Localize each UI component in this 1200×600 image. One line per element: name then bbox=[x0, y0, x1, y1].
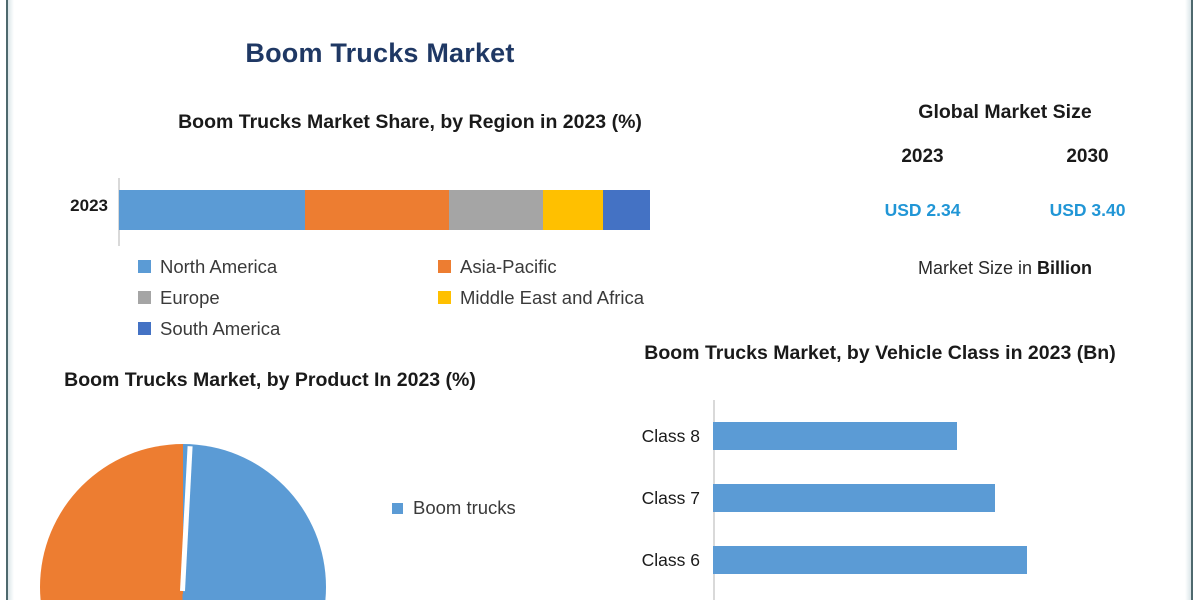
vehicle-class-plot: Class 8 Class 7 Class 6 bbox=[600, 400, 1070, 600]
gms-year-2030: 2030 bbox=[1005, 146, 1170, 168]
page-border-left-glow bbox=[8, 0, 14, 600]
vehicle-class-bar bbox=[713, 546, 1027, 574]
region-segment-south-america bbox=[603, 190, 650, 230]
region-stacked-bar bbox=[119, 190, 650, 230]
vehicle-class-row-class-8: Class 8 bbox=[600, 422, 1070, 450]
gms-footer-prefix: Market Size in bbox=[918, 258, 1037, 278]
legend-item-north-america: North America bbox=[138, 256, 438, 278]
legend-item-europe: Europe bbox=[138, 287, 438, 309]
legend-item-south-america: South America bbox=[138, 318, 438, 340]
vehicle-class-chart-title: Boom Trucks Market, by Vehicle Class in … bbox=[630, 341, 1130, 366]
product-chart-title: Boom Trucks Market, by Product In 2023 (… bbox=[20, 368, 520, 393]
global-market-size-values: USD 2.34 USD 3.40 bbox=[840, 200, 1170, 221]
vehicle-class-row-class-6: Class 6 bbox=[600, 546, 1070, 574]
product-pie-chart bbox=[40, 444, 326, 600]
vehicle-class-bar bbox=[713, 422, 957, 450]
legend-swatch-icon bbox=[138, 291, 151, 304]
vehicle-class-label: Class 8 bbox=[600, 426, 713, 447]
legend-swatch-icon bbox=[438, 291, 451, 304]
region-segment-asia-pacific bbox=[305, 190, 449, 230]
legend-label: Europe bbox=[160, 287, 220, 309]
vehicle-class-label: Class 7 bbox=[600, 488, 713, 509]
page-border-right-glow bbox=[1185, 0, 1191, 600]
gms-year-2023: 2023 bbox=[840, 146, 1005, 168]
region-segment-europe bbox=[449, 190, 543, 230]
infographic-canvas: Boom Trucks Market Boom Trucks Market Sh… bbox=[0, 0, 1200, 600]
legend-swatch-icon bbox=[392, 503, 403, 514]
region-chart-legend: North America Asia-Pacific Europe Middle… bbox=[138, 251, 698, 344]
region-segment-middle-east-and-africa bbox=[543, 190, 603, 230]
legend-label: South America bbox=[160, 318, 280, 340]
region-category-label: 2023 bbox=[46, 196, 108, 216]
legend-item-asia-pacific: Asia-Pacific bbox=[438, 256, 698, 278]
global-market-size-footer: Market Size in Billion bbox=[840, 258, 1170, 279]
page-title: Boom Trucks Market bbox=[0, 38, 760, 69]
gms-value-2030: USD 3.40 bbox=[1005, 200, 1170, 221]
global-market-size-years: 2023 2030 bbox=[840, 146, 1170, 168]
region-segment-north-america bbox=[119, 190, 305, 230]
global-market-size-title: Global Market Size bbox=[840, 100, 1170, 125]
legend-label: North America bbox=[160, 256, 277, 278]
legend-label: Asia-Pacific bbox=[460, 256, 557, 278]
gms-footer-unit: Billion bbox=[1037, 258, 1092, 278]
legend-label: Middle East and Africa bbox=[460, 287, 644, 309]
legend-swatch-icon bbox=[138, 322, 151, 335]
gms-value-2023: USD 2.34 bbox=[840, 200, 1005, 221]
legend-swatch-icon bbox=[138, 260, 151, 273]
vehicle-class-label: Class 6 bbox=[600, 550, 713, 571]
legend-item-middle-east-and-africa: Middle East and Africa bbox=[438, 287, 698, 309]
legend-swatch-icon bbox=[438, 260, 451, 273]
vehicle-class-row-class-7: Class 7 bbox=[600, 484, 1070, 512]
vehicle-class-bar bbox=[713, 484, 995, 512]
page-border-right bbox=[1191, 0, 1193, 600]
product-chart-legend: Boom trucks bbox=[392, 497, 516, 519]
legend-label: Boom trucks bbox=[413, 497, 516, 519]
region-chart-title: Boom Trucks Market Share, by Region in 2… bbox=[120, 110, 700, 135]
